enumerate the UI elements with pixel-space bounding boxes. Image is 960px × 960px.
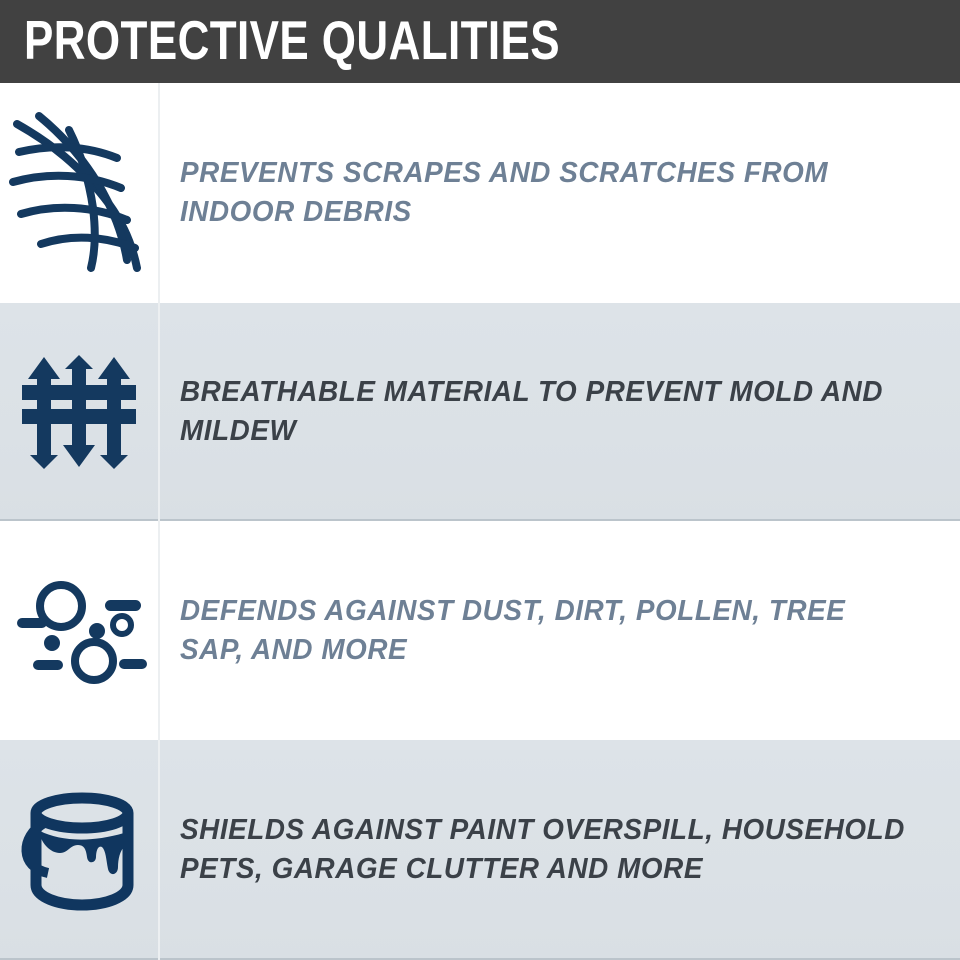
- feature-text-container: DEFENDS AGAINST DUST, DIRT, POLLEN, TREE…: [180, 521, 940, 740]
- feature-text: PREVENTS SCRAPES AND SCRATCHES FROM INDO…: [180, 154, 910, 232]
- feature-text-container: SHIELDS AGAINST PAINT OVERSPILL, HOUSEHO…: [180, 740, 940, 960]
- feature-text: DEFENDS AGAINST DUST, DIRT, POLLEN, TREE…: [180, 592, 910, 670]
- list-item: DEFENDS AGAINST DUST, DIRT, POLLEN, TREE…: [0, 521, 960, 740]
- paint-can-icon: [0, 740, 158, 960]
- header-bar: PROTECTIVE QUALITIES: [0, 0, 960, 83]
- list-item: SHIELDS AGAINST PAINT OVERSPILL, HOUSEHO…: [0, 740, 960, 960]
- list-item: PREVENTS SCRAPES AND SCRATCHES FROM INDO…: [0, 83, 960, 303]
- feature-text-container: BREATHABLE MATERIAL TO PREVENT MOLD AND …: [180, 303, 940, 521]
- list-item: BREATHABLE MATERIAL TO PREVENT MOLD AND …: [0, 303, 960, 521]
- feature-text: BREATHABLE MATERIAL TO PREVENT MOLD AND …: [180, 373, 910, 451]
- page-title: PROTECTIVE QUALITIES: [24, 9, 560, 71]
- protective-qualities-infographic: PROTECTIVE QUALITIES: [0, 0, 960, 960]
- breathable-airflow-arrows-icon: [0, 303, 158, 521]
- woven-mesh-icon: [0, 83, 158, 303]
- feature-text: SHIELDS AGAINST PAINT OVERSPILL, HOUSEHO…: [180, 811, 910, 889]
- feature-list: PREVENTS SCRAPES AND SCRATCHES FROM INDO…: [0, 83, 960, 960]
- column-divider: [158, 83, 160, 960]
- dust-particles-icon: [0, 521, 158, 740]
- feature-text-container: PREVENTS SCRAPES AND SCRATCHES FROM INDO…: [180, 83, 940, 303]
